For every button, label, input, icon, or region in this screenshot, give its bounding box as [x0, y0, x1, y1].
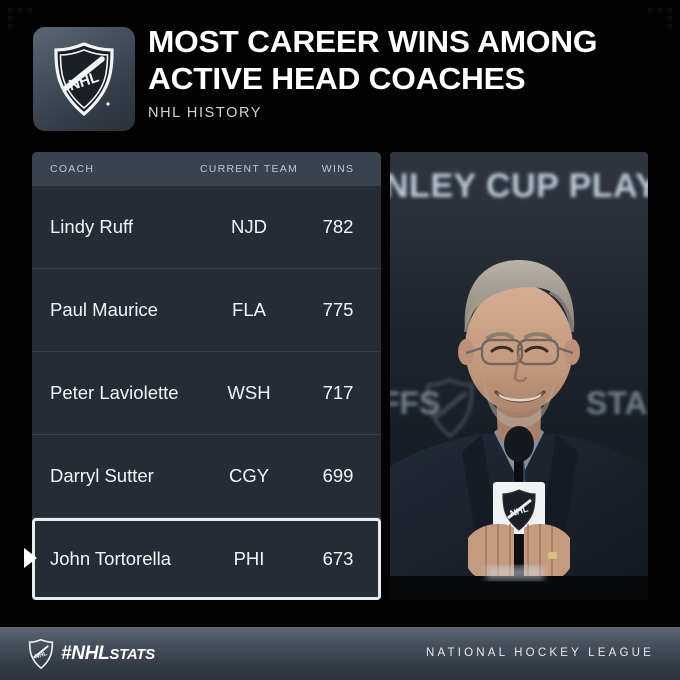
right-arrow-marker-icon [24, 548, 37, 568]
table-row[interactable]: Peter Laviolette WSH 717 [32, 351, 381, 434]
nhlstats-hashtag: #NHLSTATS [61, 643, 155, 665]
nhl-shield-icon: NHL [28, 639, 54, 669]
table-row-highlighted[interactable]: John Tortorella PHI 673 [32, 517, 381, 600]
cell-wins: 673 [304, 518, 372, 600]
svg-text:NLEY CUP PLAYO: NLEY CUP PLAYO [390, 167, 648, 205]
table-row[interactable]: Paul Maurice FLA 775 [32, 268, 381, 351]
table-header-row: COACH CURRENT TEAM WINS [32, 152, 381, 186]
footer-brand: NHL #NHLSTATS [28, 627, 155, 680]
league-name: NATIONAL HOCKEY LEAGUE [426, 627, 654, 680]
coach-photo: NLEY CUP PLAYO FFS STA [390, 152, 648, 600]
header: NHL MOST CAREER WINS AMONG ACTIVE HEAD C… [0, 0, 680, 140]
cell-coach: Darryl Sutter [50, 435, 154, 517]
cell-wins: 782 [304, 186, 372, 268]
nhlstats-hashtag-sub: STATS [109, 646, 154, 663]
svg-text:STA: STA [586, 385, 648, 421]
cell-coach: Paul Maurice [50, 269, 158, 351]
title-block: MOST CAREER WINS AMONG ACTIVE HEAD COACH… [148, 26, 668, 121]
page-title-line-2: ACTIVE HEAD COACHES [148, 63, 678, 94]
graphic-canvas: NHL MOST CAREER WINS AMONG ACTIVE HEAD C… [0, 0, 680, 680]
nhl-shield-icon: NHL [33, 27, 135, 131]
page-title-line-1: MOST CAREER WINS AMONG [148, 26, 678, 57]
nhlstats-hashtag-main: #NHL [61, 643, 109, 664]
cell-wins: 717 [304, 352, 372, 434]
column-header-wins: WINS [304, 152, 372, 186]
page-subtitle: NHL HISTORY [148, 105, 668, 121]
table-body: Lindy Ruff NJD 782 Paul Maurice FLA 775 … [32, 186, 381, 600]
cell-wins: 775 [304, 269, 372, 351]
footer-bar: NHL #NHLSTATS NATIONAL HOCKEY LEAGUE [0, 627, 680, 680]
table-row[interactable]: Darryl Sutter CGY 699 [32, 434, 381, 517]
cell-coach: Lindy Ruff [50, 186, 133, 268]
table-row[interactable]: Lindy Ruff NJD 782 [32, 186, 381, 268]
cell-wins: 699 [304, 435, 372, 517]
svg-text:NHL: NHL [34, 649, 48, 660]
cell-coach: John Tortorella [50, 518, 171, 600]
stats-table: COACH CURRENT TEAM WINS Lindy Ruff NJD 7… [32, 152, 381, 600]
column-header-coach: COACH [50, 152, 94, 186]
